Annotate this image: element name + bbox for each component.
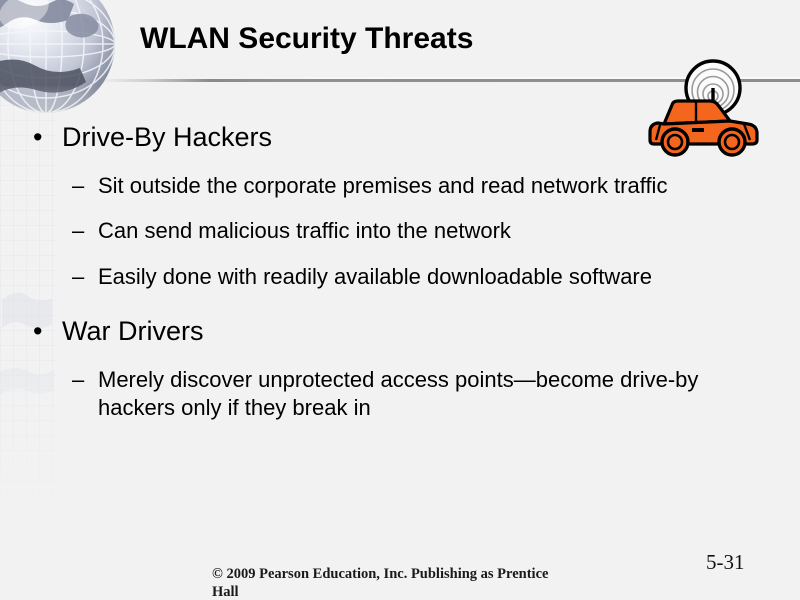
bullet-item-level1: • Drive-By Hackers — [0, 122, 790, 154]
bullet-item-level2: – Merely discover unprotected access poi… — [0, 366, 790, 421]
dash-marker: – — [72, 263, 84, 291]
bullet-text: Easily done with readily available downl… — [98, 264, 652, 289]
dash-marker: – — [72, 217, 84, 245]
bullet-marker: • — [33, 316, 42, 348]
page-title: WLAN Security Threats — [140, 22, 740, 55]
globe-icon — [0, 0, 124, 138]
bullet-item-level2: – Can send malicious traffic into the ne… — [0, 217, 790, 245]
footer-line-1: © 2009 Pearson Education, Inc. Publishin… — [212, 565, 632, 583]
bullet-text: Can send malicious traffic into the netw… — [98, 218, 511, 243]
footer-line-2: Hall — [212, 583, 632, 600]
slide-body: • Drive-By Hackers – Sit outside the cor… — [0, 122, 790, 435]
slide-number: 5-31 — [706, 550, 745, 575]
bullet-item-level2: – Easily done with readily available dow… — [0, 263, 790, 291]
dash-marker: – — [72, 172, 84, 200]
dash-marker: – — [72, 366, 84, 394]
bullet-text: War Drivers — [62, 316, 204, 346]
bullet-text: Merely discover unprotected access point… — [98, 367, 698, 420]
bullet-text: Drive-By Hackers — [62, 122, 272, 152]
bullet-text: Sit outside the corporate premises and r… — [98, 173, 667, 198]
presentation-slide: WLAN Security Threats — [0, 0, 800, 600]
bullet-marker: • — [33, 122, 42, 154]
bullet-item-level1: • War Drivers — [0, 316, 790, 348]
bullet-item-level2: – Sit outside the corporate premises and… — [0, 172, 790, 200]
footer-copyright: © 2009 Pearson Education, Inc. Publishin… — [212, 565, 632, 600]
